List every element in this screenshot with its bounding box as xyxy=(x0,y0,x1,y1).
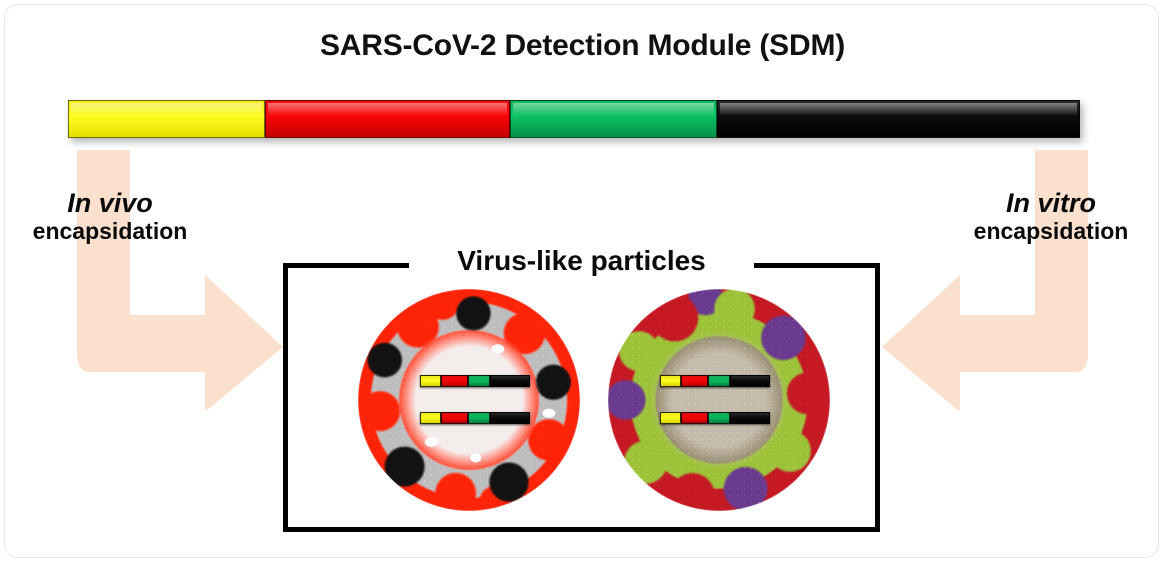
mini-segment-black xyxy=(730,412,769,424)
sdm-segment-red xyxy=(265,100,510,138)
mini-segment-red xyxy=(681,375,708,387)
in-vitro-label: In vitro encapsidation xyxy=(948,188,1154,246)
encapsidated-sdm-bar xyxy=(660,375,770,387)
vlp-in-vivo-particle xyxy=(358,289,580,511)
encapsidated-sdm-bar xyxy=(420,375,530,387)
figure-root: SARS-CoV-2 Detection Module (SDM) In viv… xyxy=(0,0,1165,564)
mini-segment-green xyxy=(708,412,730,424)
in-vivo-label-line1: In vivo xyxy=(12,188,208,218)
mini-segment-green xyxy=(468,412,490,424)
mini-segment-yellow xyxy=(420,412,441,424)
mini-segment-green xyxy=(468,375,490,387)
mini-segment-black xyxy=(730,375,769,387)
in-vivo-label: In vivo encapsidation xyxy=(12,188,208,246)
mini-segment-yellow xyxy=(660,375,681,387)
mini-segment-black xyxy=(490,375,529,387)
encapsidated-sdm-bar xyxy=(660,412,770,424)
page-title: SARS-CoV-2 Detection Module (SDM) xyxy=(0,29,1165,63)
vlp-in-vivo-surface-texture xyxy=(358,289,580,511)
mini-segment-red xyxy=(441,412,468,424)
sdm-construct-bar xyxy=(68,100,1080,138)
sdm-segment-yellow xyxy=(68,100,265,138)
vlp-in-vitro-surface-texture xyxy=(608,289,830,511)
in-vitro-label-line2: encapsidation xyxy=(948,218,1154,246)
encapsidated-sdm-bar xyxy=(420,412,530,424)
vlp-in-vitro-particle xyxy=(608,289,830,511)
mini-segment-yellow xyxy=(420,375,441,387)
in-vitro-label-line1: In vitro xyxy=(948,188,1154,218)
mini-segment-green xyxy=(708,375,730,387)
mini-segment-black xyxy=(490,412,529,424)
mini-segment-red xyxy=(441,375,468,387)
vlp-panel-title: Virus-like particles xyxy=(409,245,754,277)
mini-segment-red xyxy=(681,412,708,424)
sdm-segment-black xyxy=(717,100,1080,138)
in-vivo-label-line2: encapsidation xyxy=(12,218,208,246)
sdm-segment-green xyxy=(510,100,716,138)
mini-segment-yellow xyxy=(660,412,681,424)
